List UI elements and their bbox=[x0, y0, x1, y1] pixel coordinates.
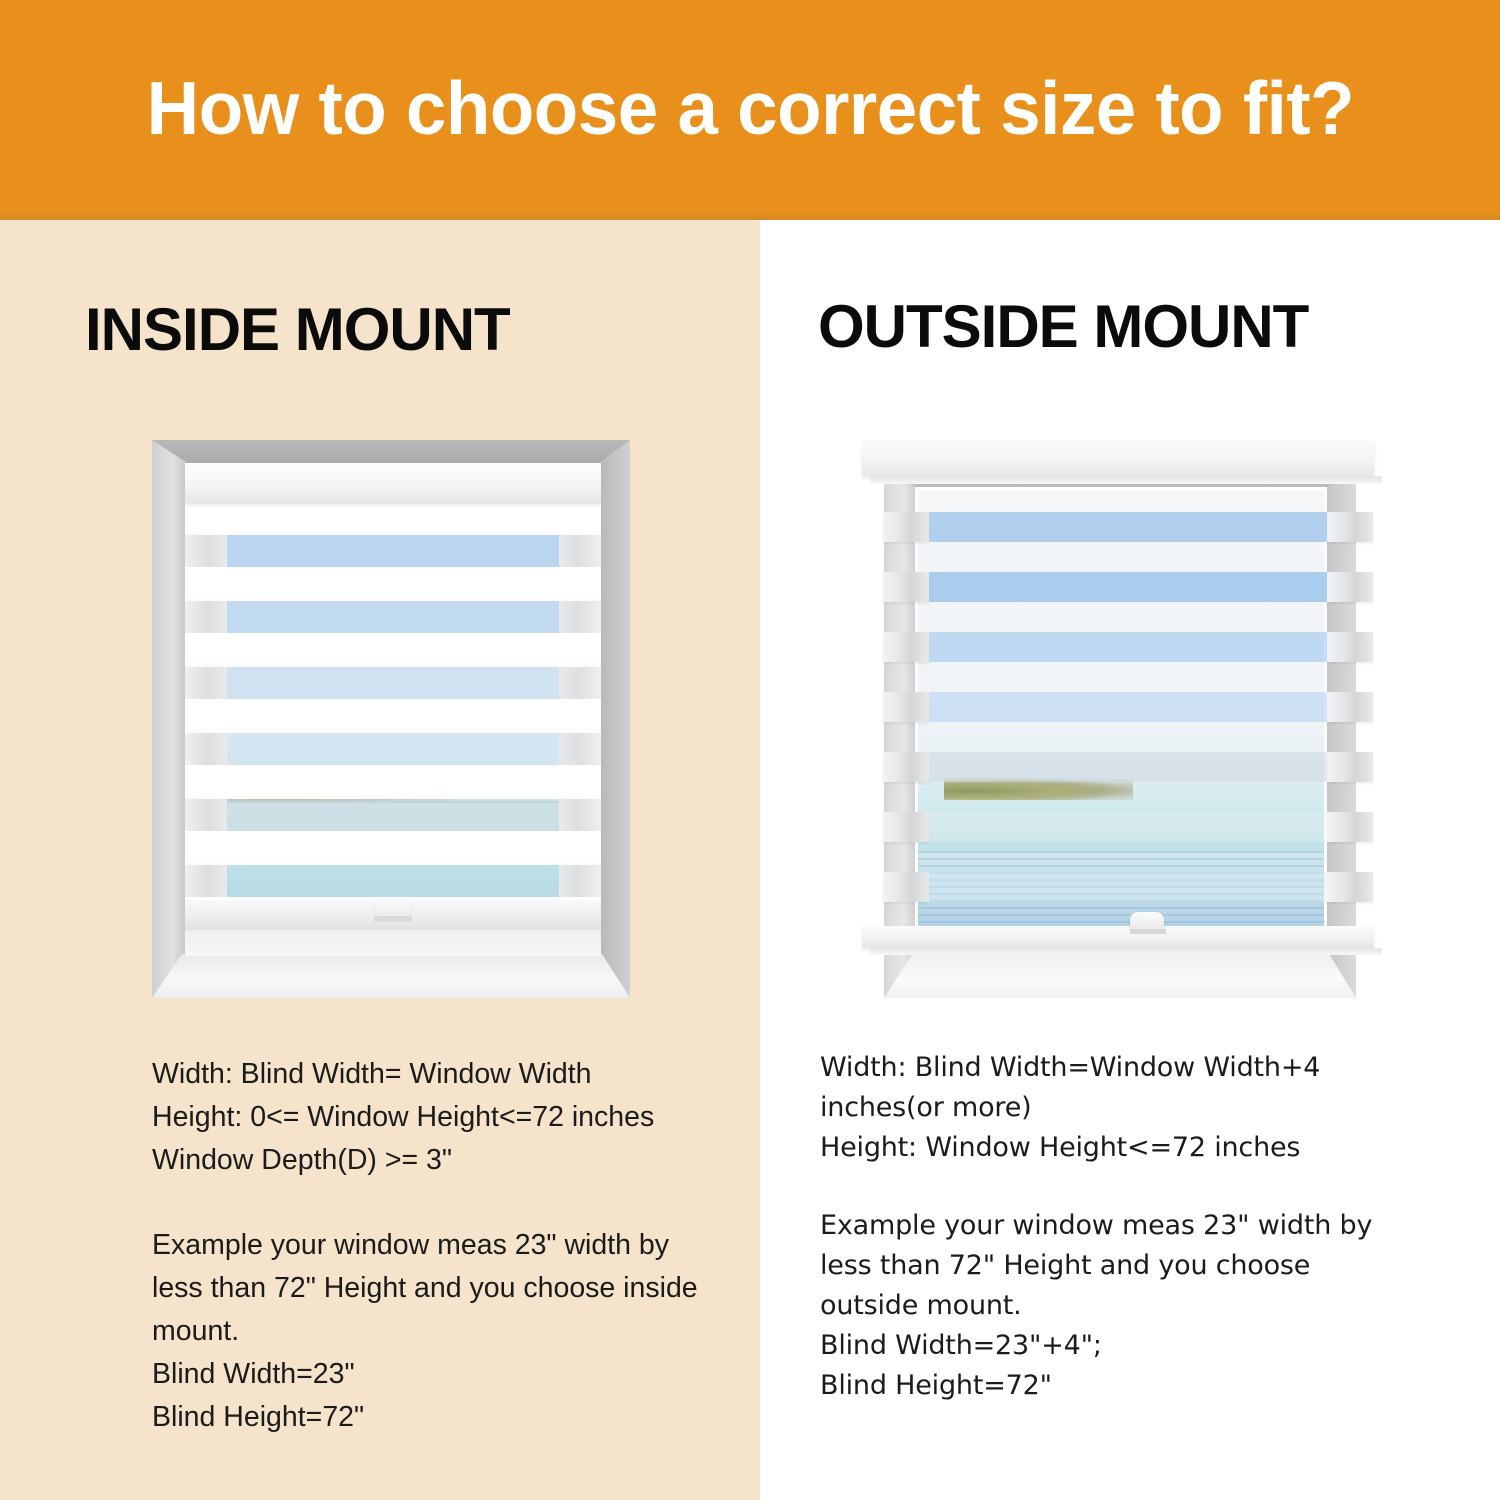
blind-band-opaque bbox=[185, 633, 601, 667]
outside-spec-line: Height: Window Height<=72 inches bbox=[820, 1128, 1420, 1168]
blind-slat-sheer bbox=[929, 692, 1327, 722]
zebra-blind-fabric[interactable] bbox=[185, 501, 601, 956]
inside-example-line: Blind Width=23" bbox=[152, 1353, 732, 1396]
outside-example-line: outside mount. bbox=[820, 1286, 1420, 1326]
blind-headrail bbox=[185, 463, 601, 503]
blind-band-sheer bbox=[185, 601, 601, 633]
outside-example-line: Blind Width=23"+4"; bbox=[820, 1326, 1420, 1366]
blind-slat-sheer bbox=[929, 632, 1327, 662]
blind-band-sheer bbox=[185, 733, 601, 765]
blind-band-sheer bbox=[185, 535, 601, 567]
window-opening bbox=[185, 463, 601, 956]
blind-band-opaque bbox=[185, 501, 601, 535]
page-title: How to choose a correct size to fit? bbox=[146, 65, 1353, 151]
blind-slat-left-cap bbox=[883, 752, 929, 782]
blind-bottom-rail bbox=[862, 926, 1374, 948]
blind-slat-sheer bbox=[929, 872, 1327, 902]
window-frame-depth-left bbox=[884, 464, 916, 998]
window-sill bbox=[152, 954, 630, 998]
blind-band-sheer bbox=[185, 865, 601, 897]
blind-slat-row[interactable] bbox=[883, 632, 1373, 662]
window-inner-sill bbox=[185, 930, 601, 956]
outside-example-line: less than 72" Height and you choose bbox=[820, 1246, 1420, 1286]
blind-band-opaque bbox=[185, 765, 601, 799]
window-frame-depth-right bbox=[600, 440, 630, 998]
infographic-page: How to choose a correct size to fit? INS… bbox=[0, 0, 1500, 1500]
blind-slat-right-cap bbox=[1327, 812, 1373, 842]
blind-band-sheer bbox=[185, 799, 601, 831]
blind-slat-sheer bbox=[929, 572, 1327, 602]
blind-slat-sheer bbox=[929, 512, 1327, 542]
header-banner: How to choose a correct size to fit? bbox=[0, 0, 1500, 215]
blind-slat-right-cap bbox=[1327, 752, 1373, 782]
blind-band-opaque bbox=[185, 567, 601, 601]
blind-band-opaque bbox=[185, 831, 601, 865]
outside-mount-window-blind-diagram bbox=[862, 440, 1382, 1000]
blind-slat-right-cap bbox=[1327, 872, 1373, 902]
paragraph-gap bbox=[152, 1182, 732, 1224]
outside-example-line: Blind Height=72" bbox=[820, 1366, 1420, 1406]
blind-pull-tab[interactable] bbox=[1130, 912, 1164, 929]
blind-slat-row[interactable] bbox=[883, 512, 1373, 542]
inside-example-line: Blind Height=72" bbox=[152, 1396, 732, 1439]
blind-slat-left-cap bbox=[883, 812, 929, 842]
blind-slat-row[interactable] bbox=[883, 572, 1373, 602]
paragraph-gap bbox=[820, 1168, 1420, 1206]
blind-slat-sheer bbox=[929, 812, 1327, 842]
inside-mount-heading: INSIDE MOUNT bbox=[85, 295, 510, 364]
inside-example-line: mount. bbox=[152, 1310, 732, 1353]
blind-slat-row[interactable] bbox=[883, 752, 1373, 782]
outside-mount-heading: OUTSIDE MOUNT bbox=[818, 292, 1308, 361]
window-frame-depth-top bbox=[152, 440, 630, 464]
blind-slat-right-cap bbox=[1327, 692, 1373, 722]
outside-spec-line: Width: Blind Width=Window Width+4 bbox=[820, 1048, 1420, 1088]
window-assembly bbox=[884, 464, 1356, 998]
blind-slat-right-cap bbox=[1327, 572, 1373, 602]
blind-slat-left-cap bbox=[883, 512, 929, 542]
blind-band-sheer bbox=[185, 667, 601, 699]
window-frame-depth-left bbox=[152, 440, 186, 998]
blind-pull-tab[interactable] bbox=[375, 898, 411, 916]
blind-slat-right-cap bbox=[1327, 512, 1373, 542]
blind-slat-left-cap bbox=[883, 572, 929, 602]
blind-slat-left-cap bbox=[883, 872, 929, 902]
blind-slat-row[interactable] bbox=[883, 692, 1373, 722]
outside-mount-copy: Width: Blind Width=Window Width+4 inches… bbox=[820, 1048, 1420, 1406]
blind-headrail bbox=[862, 440, 1374, 476]
blind-pull-tab-shadow bbox=[374, 917, 412, 922]
outside-spec-line: inches(or more) bbox=[820, 1088, 1420, 1128]
inside-example-line: less than 72" Height and you choose insi… bbox=[152, 1267, 732, 1310]
inside-example-line: Example your window meas 23" width by bbox=[152, 1224, 732, 1267]
inside-mount-copy: Width: Blind Width= Window Width Height:… bbox=[152, 1053, 732, 1439]
blind-slat-row[interactable] bbox=[883, 872, 1373, 902]
inside-spec-line: Height: 0<= Window Height<=72 inches bbox=[152, 1096, 732, 1139]
blind-slat-row[interactable] bbox=[883, 812, 1373, 842]
blind-slat-right-cap bbox=[1327, 632, 1373, 662]
blind-slat-left-cap bbox=[883, 632, 929, 662]
blind-slat-left-cap bbox=[883, 692, 929, 722]
blind-slat-sheer bbox=[929, 752, 1327, 782]
inside-spec-line: Width: Blind Width= Window Width bbox=[152, 1053, 732, 1096]
outside-example-line: Example your window meas 23" width by bbox=[820, 1206, 1420, 1246]
window-frame-depth-right bbox=[1326, 464, 1356, 998]
blind-band-opaque bbox=[185, 699, 601, 733]
blind-pull-tab-shadow bbox=[1130, 929, 1166, 934]
inside-spec-line: Window Depth(D) >= 3" bbox=[152, 1139, 732, 1182]
inside-mount-window-blind-diagram bbox=[152, 440, 630, 998]
window-sill bbox=[884, 952, 1356, 998]
